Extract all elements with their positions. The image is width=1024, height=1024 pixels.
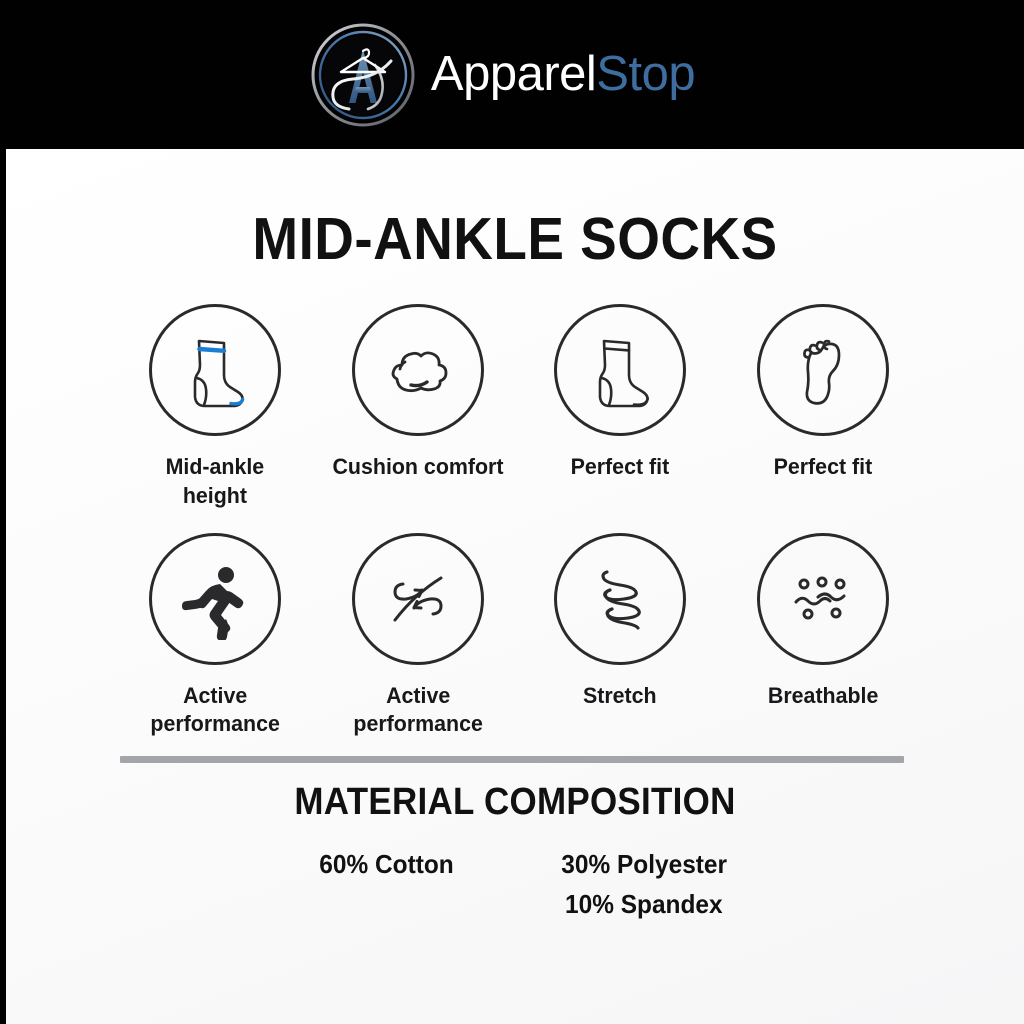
cushion-cloud-icon: [375, 327, 461, 413]
material-column-right: 30% Polyester 10% Spandex: [515, 849, 773, 920]
material-composition-heading: MATERIAL COMPOSITION: [47, 781, 984, 824]
coil-spring-icon: [577, 556, 663, 642]
feature-icon-frame: [757, 304, 889, 436]
feature-icon-frame: [757, 533, 889, 665]
feature-label: Breathable: [768, 682, 878, 711]
material-composition-values: 60% Cotton 30% Polyester 10% Spandex: [6, 849, 1024, 920]
feature-icon-frame: [352, 533, 484, 665]
feature-icon-frame: [149, 533, 281, 665]
footprint-icon: [780, 327, 866, 413]
infographic-page: ApparelStop MID-ANKLE SOCKS: [0, 0, 1024, 1024]
feature-label: Perfect fit: [571, 453, 670, 482]
feature-item-mid-ankle-height: Mid-ankleheight: [114, 304, 317, 511]
feature-grid: Mid-ankleheight Cushion comfort: [114, 304, 924, 739]
hanger-monogram-emblem-icon: [309, 21, 417, 129]
feature-item-active-performance-arrows: Activeperformance: [317, 533, 520, 740]
feature-item-perfect-fit-foot: Perfect fit: [722, 304, 925, 511]
feature-icon-frame: [554, 304, 686, 436]
feature-item-cushion-comfort: Cushion comfort: [317, 304, 520, 511]
feature-icon-frame: [149, 304, 281, 436]
material-item: 10% Spandex: [565, 889, 723, 921]
material-item: 30% Polyester: [561, 849, 727, 881]
running-person-icon: [174, 558, 256, 640]
feature-item-active-performance-runner: Activeperformance: [114, 533, 317, 740]
two-way-arrows-icon: [375, 556, 461, 642]
feature-item-perfect-fit-sock: Perfect fit: [519, 304, 722, 511]
material-column-left: 60% Cotton: [257, 849, 515, 920]
feature-label: Activeperformance: [151, 682, 280, 740]
brand-name-primary: Apparel: [431, 47, 596, 101]
feature-label: Mid-ankleheight: [166, 453, 265, 511]
page-title: MID-ANKLE SOCKS: [42, 205, 989, 273]
brand-logo: ApparelStop: [309, 21, 695, 129]
brand-wordmark: ApparelStop: [431, 50, 695, 99]
content-card: MID-ANKLE SOCKS Mid-ankleheight: [6, 149, 1024, 1024]
brand-name-secondary: Stop: [596, 47, 695, 101]
brand-header: ApparelStop: [0, 0, 1024, 149]
feature-label: Activeperformance: [353, 682, 482, 740]
section-divider: [120, 756, 904, 763]
feature-label: Stretch: [583, 682, 657, 711]
material-item: 60% Cotton: [319, 849, 453, 881]
feature-label: Cushion comfort: [332, 453, 503, 482]
sock-height-icon: [172, 327, 258, 413]
feature-label: Perfect fit: [773, 453, 872, 482]
sock-fit-icon: [577, 327, 663, 413]
feature-icon-frame: [554, 533, 686, 665]
feature-item-stretch: Stretch: [519, 533, 722, 740]
airflow-breathable-icon: [780, 556, 866, 642]
feature-item-breathable: Breathable: [722, 533, 925, 740]
feature-icon-frame: [352, 304, 484, 436]
